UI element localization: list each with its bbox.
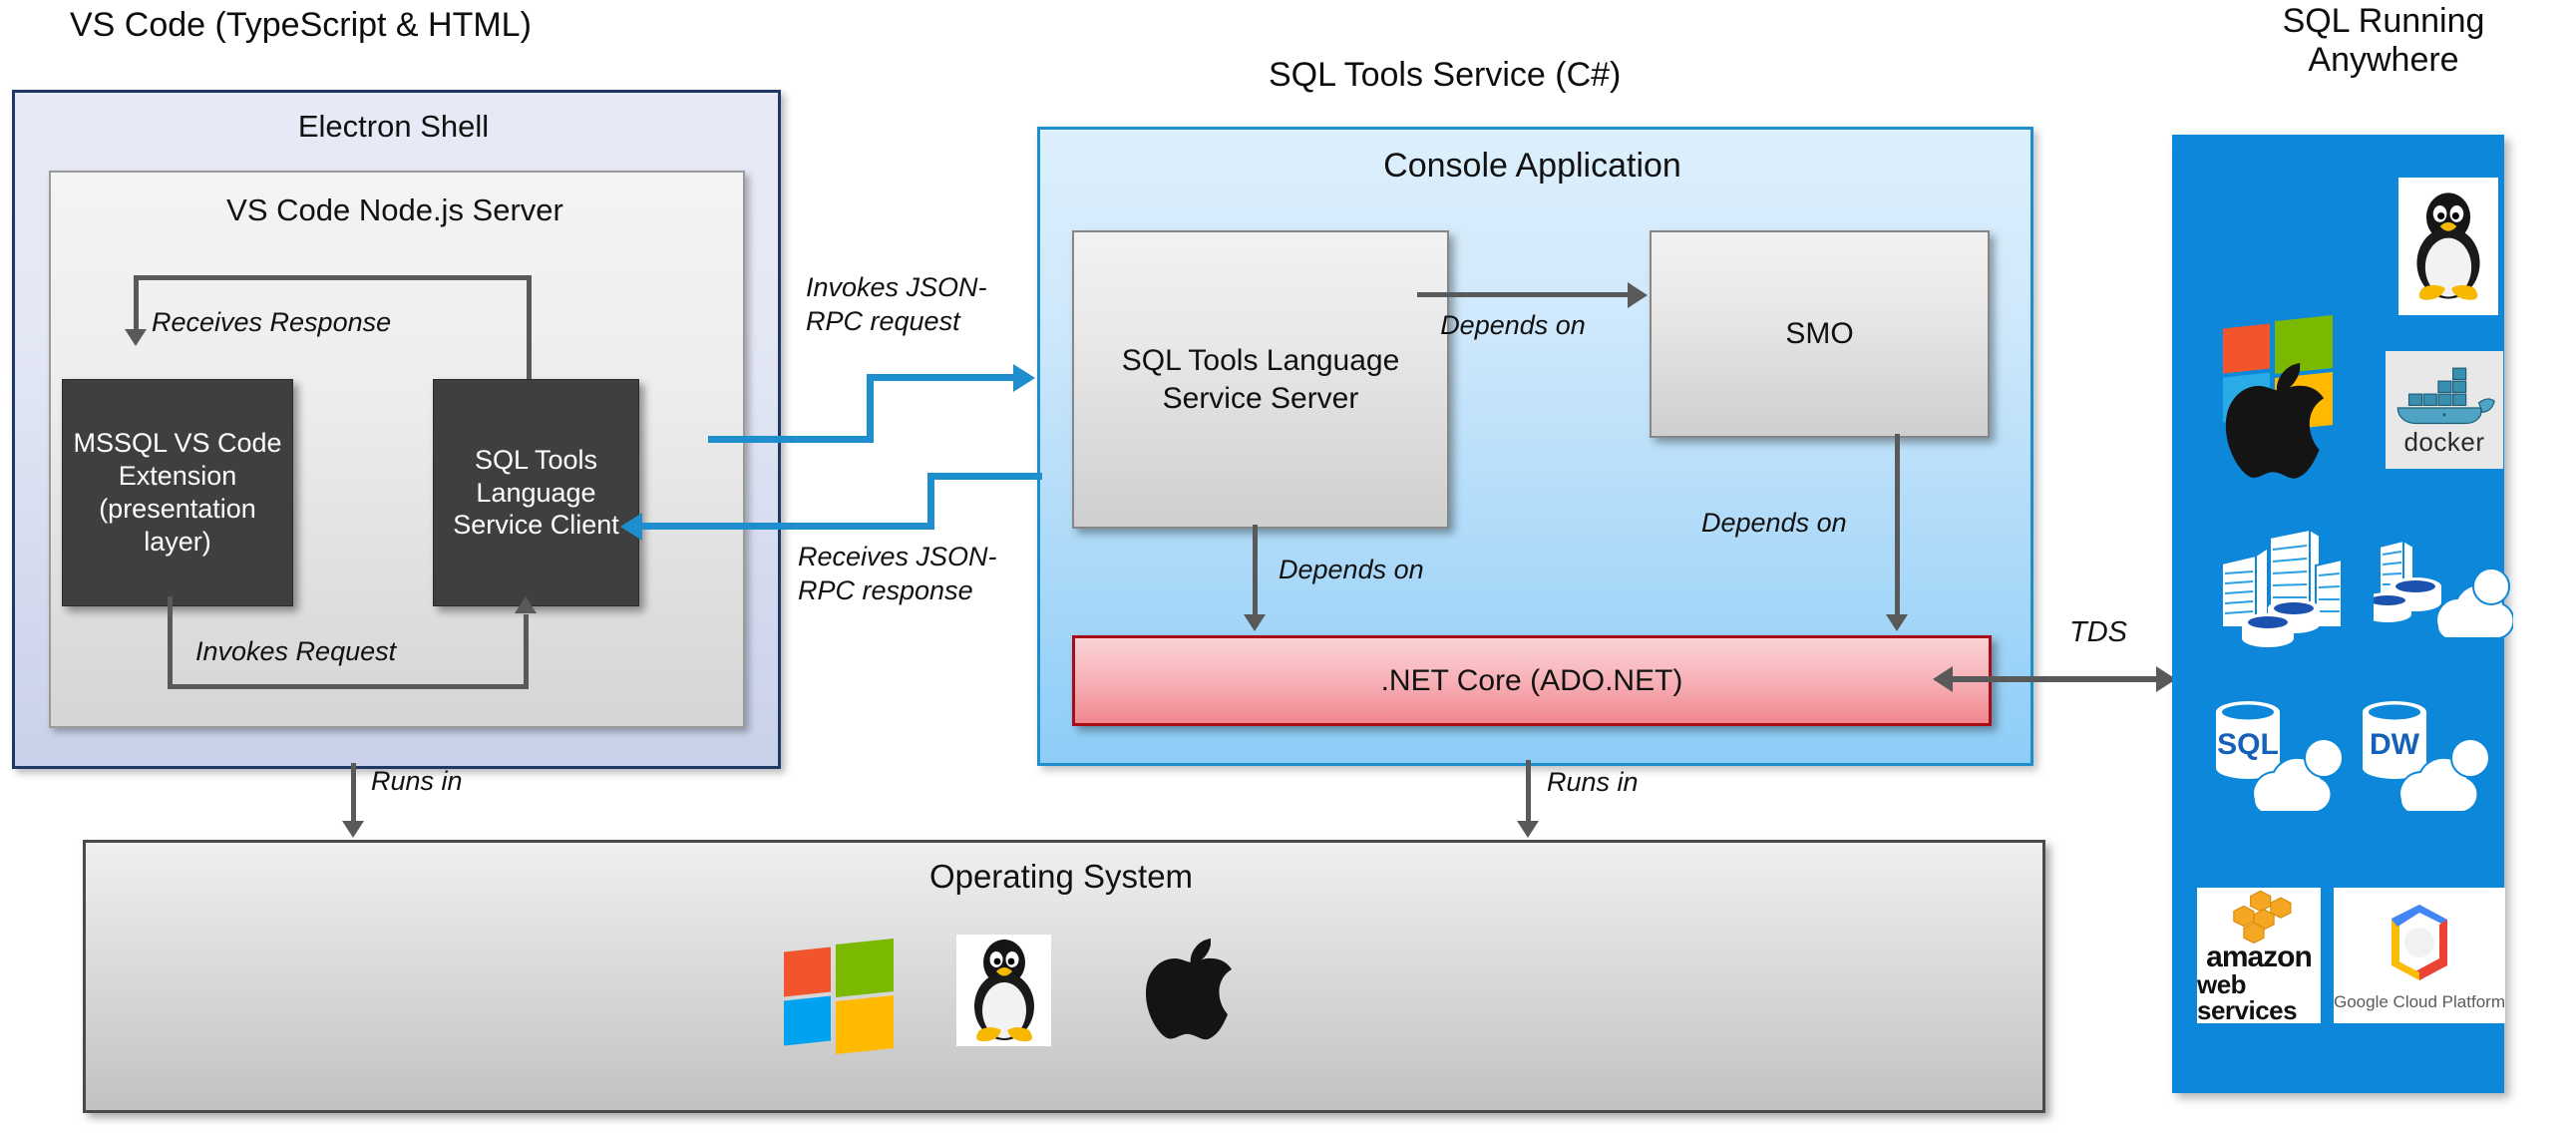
jsonrpc-response-seg-riser bbox=[927, 473, 934, 529]
smo-to-dotnet-label: Depends on bbox=[1701, 507, 1847, 539]
tds-line bbox=[1953, 676, 2175, 682]
dw-db-text: DW bbox=[2370, 728, 2420, 761]
sql-tools-language-service-server-box[interactable]: SQL Tools Language Service Server bbox=[1072, 230, 1449, 529]
aws-label-line2: web services bbox=[2197, 971, 2321, 1023]
dotnet-core-ado-net-box[interactable]: .NET Core (ADO.NET) bbox=[1072, 635, 1992, 726]
server-to-dotnet-arrowhead bbox=[1244, 614, 1266, 631]
runs-in-right-label: Runs in bbox=[1547, 766, 1639, 798]
console-application-title: Console Application bbox=[1037, 142, 2027, 189]
jsonrpc-request-seg-from-client bbox=[708, 436, 872, 443]
server-to-smo-label: Depends on bbox=[1428, 309, 1598, 341]
gcp-label: Google Cloud Platform bbox=[2334, 992, 2505, 1012]
server-to-smo-arrowhead bbox=[1628, 282, 1648, 308]
on-premises-datacenter-icon bbox=[2212, 524, 2352, 651]
sql-tools-language-service-client-box[interactable]: SQL Tools Language Service Client bbox=[433, 379, 639, 606]
azure-sql-data-warehouse-cloud-icon: DW bbox=[2349, 688, 2498, 818]
cloud-apple-logo bbox=[2211, 344, 2339, 494]
vscode-nodejs-server-title: VS Code Node.js Server bbox=[49, 188, 741, 233]
caption-sql-running-anywhere: SQL Running Anywhere bbox=[2204, 2, 2563, 80]
jsonrpc-request-seg-to-console bbox=[867, 374, 1018, 381]
runs-in-left-arrowhead bbox=[342, 821, 364, 838]
invokes-jsonrpc-request-label: Invokes JSON-RPC request bbox=[806, 271, 1020, 339]
runs-in-left-line bbox=[351, 763, 356, 823]
cloud-linux-tux-logo bbox=[2398, 178, 2498, 315]
azure-sql-database-cloud-icon: SQL bbox=[2202, 688, 2352, 818]
sql-db-text: SQL bbox=[2217, 728, 2279, 761]
tds-arrowhead-left bbox=[1933, 666, 1953, 692]
linux-tux-logo bbox=[956, 935, 1051, 1046]
invokes-request-riser-to-client bbox=[524, 614, 529, 686]
receives-response-arrowhead bbox=[125, 329, 147, 346]
invokes-request-label: Invokes Request bbox=[195, 635, 396, 667]
google-cloud-platform-logo: Google Cloud Platform bbox=[2334, 888, 2505, 1023]
receives-jsonrpc-response-label: Receives JSON-RPC response bbox=[798, 541, 1022, 608]
jsonrpc-request-arrowhead bbox=[1013, 364, 1035, 392]
dotnet-core-ado-net-label: .NET Core (ADO.NET) bbox=[1381, 664, 1683, 698]
windows-logo bbox=[780, 936, 898, 1053]
server-to-dotnet-label: Depends on bbox=[1279, 554, 1424, 585]
caption-vscode: VS Code (TypeScript & HTML) bbox=[70, 6, 532, 45]
server-to-smo-line bbox=[1417, 292, 1629, 297]
receives-response-riser-from-client bbox=[527, 275, 532, 379]
caption-sql-tools-service: SQL Tools Service (C#) bbox=[1269, 56, 1621, 95]
sql-tools-language-service-server-label: SQL Tools Language Service Server bbox=[1088, 342, 1433, 417]
jsonrpc-request-seg-riser bbox=[867, 374, 874, 443]
invokes-request-bottom-run bbox=[168, 684, 529, 689]
smo-to-dotnet-arrowhead bbox=[1886, 614, 1908, 631]
docker-logo: docker bbox=[2386, 351, 2503, 469]
runs-in-right-arrowhead bbox=[1517, 821, 1539, 838]
smo-label: SMO bbox=[1785, 315, 1853, 353]
architecture-diagram: VS Code (TypeScript & HTML) SQL Tools Se… bbox=[0, 0, 2576, 1134]
receives-response-top-run bbox=[134, 275, 532, 280]
invokes-request-arrowhead bbox=[515, 596, 537, 613]
receives-response-label: Receives Response bbox=[152, 306, 391, 338]
mssql-vscode-extension-box[interactable]: MSSQL VS Code Extension (presentation la… bbox=[62, 379, 293, 606]
smo-to-dotnet-line bbox=[1895, 434, 1900, 616]
docker-label: docker bbox=[2403, 427, 2484, 458]
tds-label: TDS bbox=[2069, 615, 2127, 650]
runs-in-right-line bbox=[1526, 760, 1531, 823]
amazon-web-services-logo: amazon web services bbox=[2197, 888, 2321, 1023]
electron-shell-title: Electron Shell bbox=[12, 103, 775, 151]
aws-label-line1: amazon bbox=[2206, 944, 2312, 972]
runs-in-left-label: Runs in bbox=[371, 765, 463, 797]
jsonrpc-response-seg-from-console bbox=[927, 473, 1042, 480]
server-to-dotnet-line bbox=[1253, 525, 1258, 616]
receives-response-line-left-vert bbox=[134, 275, 139, 330]
azure-sql-vm-cloud-icon bbox=[2374, 529, 2513, 650]
invokes-request-drop-from-extension bbox=[168, 596, 173, 689]
operating-system-title: Operating System bbox=[83, 853, 2039, 901]
mssql-vscode-extension-label: MSSQL VS Code Extension (presentation la… bbox=[69, 427, 286, 559]
jsonrpc-response-arrowhead bbox=[620, 513, 642, 541]
sql-tools-language-service-client-label: SQL Tools Language Service Client bbox=[440, 444, 632, 543]
jsonrpc-response-seg-to-client bbox=[642, 523, 934, 530]
apple-logo bbox=[1133, 923, 1245, 1052]
smo-box[interactable]: SMO bbox=[1650, 230, 1990, 438]
